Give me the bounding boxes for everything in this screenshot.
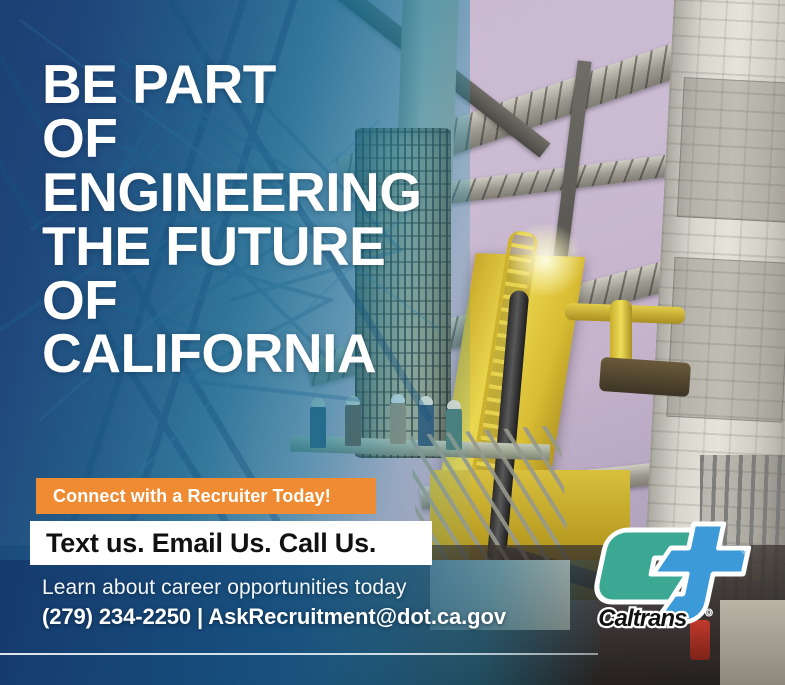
contact-details[interactable]: (279) 234-2250 | AskRecruitment@dot.ca.g…: [42, 604, 506, 630]
headline-line-2: OF: [42, 112, 462, 166]
recruiter-cta-label: Connect with a Recruiter Today!: [53, 486, 331, 507]
bottom-divider-line: [0, 653, 598, 655]
svg-text:Caltrans: Caltrans: [598, 605, 687, 632]
headline-line-1: BE PART: [42, 58, 462, 112]
tower-rivet-plate: [666, 257, 785, 423]
headline-line-3: ENGINEERING: [42, 166, 462, 220]
caltrans-wordmark: Caltrans ®: [593, 602, 743, 636]
recruiter-cta-banner[interactable]: Connect with a Recruiter Today!: [36, 478, 376, 514]
caltrans-recruitment-ad: BE PART OF ENGINEERING THE FUTURE OF CAL…: [0, 0, 785, 685]
headline-line-4: THE FUTURE: [42, 220, 462, 274]
tower-rivet-plate: [677, 77, 785, 223]
headline-line-6: CALIFORNIA: [42, 327, 462, 381]
svg-text:®: ®: [706, 608, 712, 617]
registered-trademark-icon: ®: [742, 546, 749, 557]
headline-line-5: OF: [42, 274, 462, 328]
learn-more-text: Learn about career opportunities today: [42, 576, 407, 600]
caltrans-logo[interactable]: Caltrans ® ®: [585, 518, 755, 648]
pump-pipe-head: [599, 357, 691, 397]
page-title: BE PART OF ENGINEERING THE FUTURE OF CAL…: [42, 58, 462, 381]
light-flare: [505, 225, 585, 295]
contact-methods-label: Text us. Email Us. Call Us.: [46, 528, 376, 559]
contact-methods-banner[interactable]: Text us. Email Us. Call Us.: [30, 521, 432, 565]
